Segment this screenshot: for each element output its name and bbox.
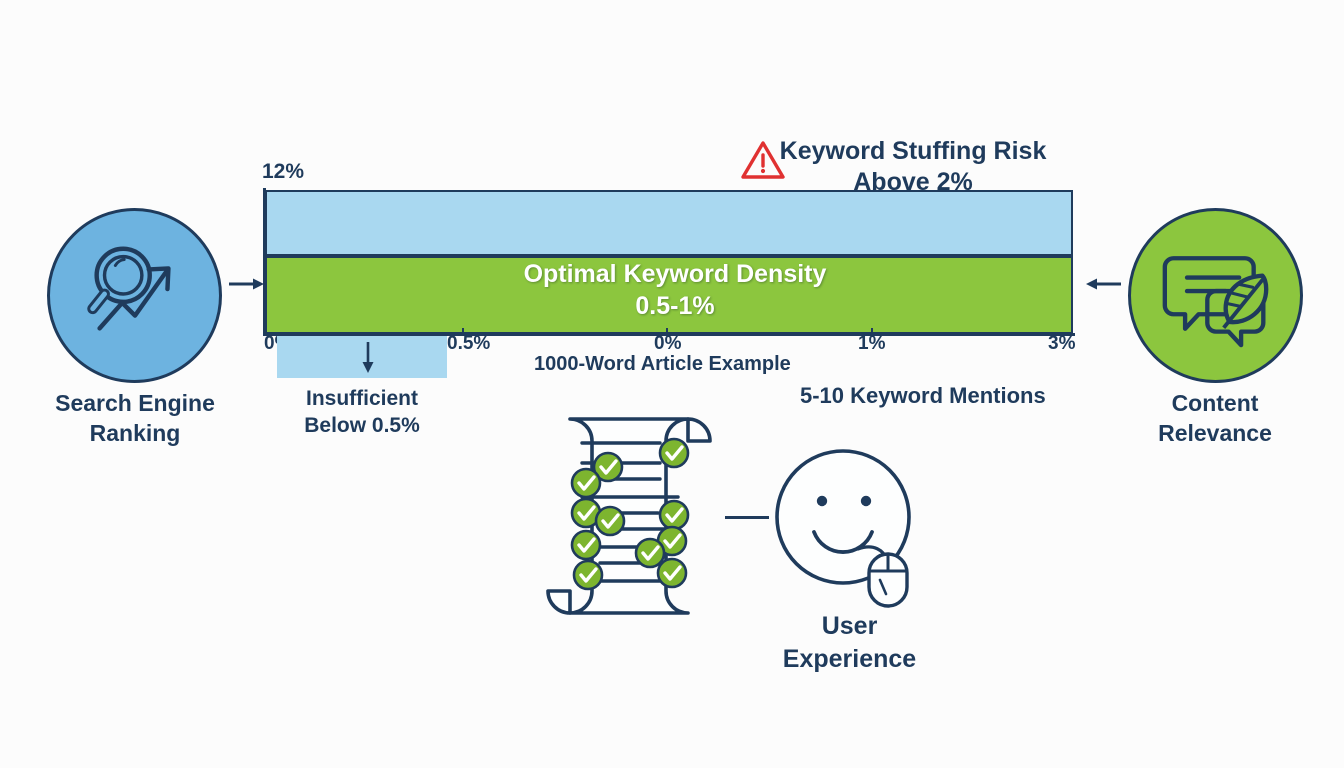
content-relevance-circle xyxy=(1128,208,1303,383)
search-engine-ranking-label: Search Engine Ranking xyxy=(15,388,255,449)
y-axis-top-label: 12% xyxy=(262,160,304,184)
x-tick-label-2: 0% xyxy=(654,333,681,355)
down-arrow-icon xyxy=(358,340,378,379)
scroll-to-smiley-connector xyxy=(725,516,769,519)
optimal-density-value: 0.5-1% xyxy=(635,292,714,320)
user-experience-label: User Experience xyxy=(762,610,937,675)
keyword-stuffing-risk-text: Keyword Stuffing Risk Above 2% xyxy=(768,136,1058,197)
x-tick-label-1: 0.5% xyxy=(447,333,490,355)
speech-leaf-icon xyxy=(1156,237,1276,354)
smiley-mouse-icon xyxy=(770,444,930,614)
optimal-density-title: Optimal Keyword Density xyxy=(524,260,827,288)
insufficient-zone-label: Insufficient Below 0.5% xyxy=(262,385,462,440)
x-tick-label-3: 1% xyxy=(858,333,885,355)
infographic-canvas: Search Engine Ranking Content Relevance xyxy=(0,0,1344,768)
optimal-density-label: Optimal Keyword Density0.5-1% xyxy=(465,258,885,322)
upper-range-band xyxy=(265,190,1073,256)
checklist-scroll-icon xyxy=(500,405,740,630)
arrow-right-to-bar xyxy=(1086,273,1122,300)
content-relevance-label: Content Relevance xyxy=(1095,388,1335,449)
keyword-mentions-text: 5-10 Keyword Mentions xyxy=(800,383,1046,409)
x-tick-label-4: 3% xyxy=(1048,333,1075,355)
search-growth-icon xyxy=(76,234,194,357)
search-engine-ranking-circle xyxy=(47,208,222,383)
arrow-left-to-bar xyxy=(228,273,264,300)
article-example-text: 1000-Word Article Example xyxy=(534,353,791,376)
